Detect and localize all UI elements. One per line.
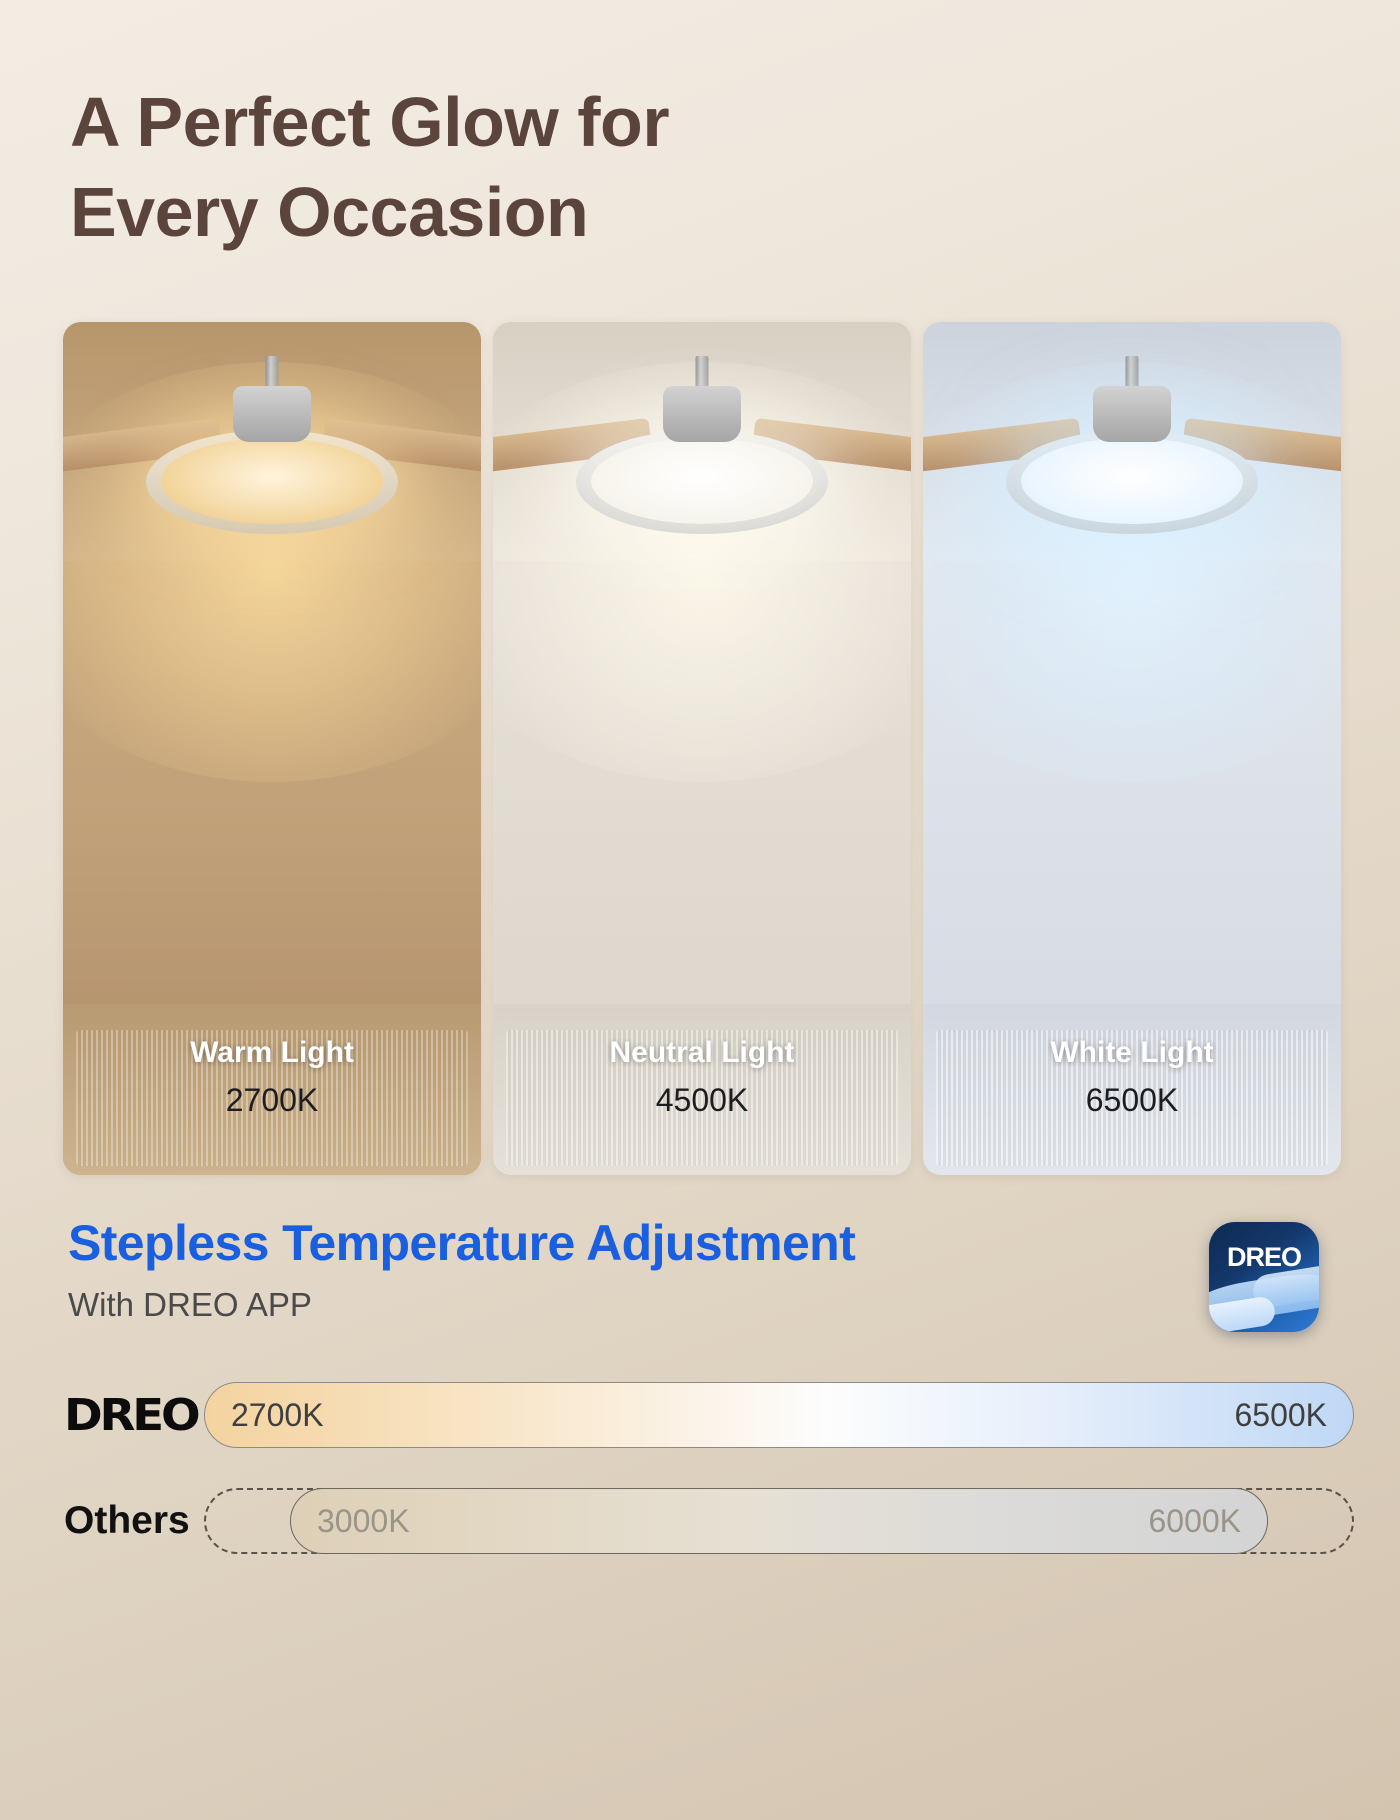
dreo-range-bar[interactable]: 2700K 6500K	[204, 1382, 1354, 1448]
others-range-bar[interactable]: 3000K 6000K	[290, 1488, 1268, 1554]
fan-motor-housing	[663, 386, 741, 442]
dreo-app-icon[interactable]: DREO	[1209, 1222, 1319, 1332]
wall	[923, 561, 1341, 1022]
dreo-range-min: 2700K	[231, 1397, 324, 1434]
row-label-dreo: DREO	[64, 1390, 204, 1441]
panel-kelvin: 2700K	[63, 1082, 481, 1119]
headline-line-2: Every Occasion	[70, 168, 970, 258]
fan-lamp-diffuser	[591, 438, 813, 524]
panel-white-light[interactable]: White Light 6500K	[923, 322, 1341, 1175]
comparison-row-dreo: DREO 2700K 6500K	[64, 1378, 1354, 1452]
fan-motor-housing	[1093, 386, 1171, 442]
others-range-outline: 3000K 6000K	[204, 1488, 1354, 1554]
panel-warm-light[interactable]: Warm Light 2700K	[63, 322, 481, 1175]
ceiling-fan	[493, 356, 911, 566]
wall	[493, 561, 911, 1022]
dreo-range-bar-wrap: 2700K 6500K	[204, 1382, 1354, 1448]
others-range-max: 6000K	[1148, 1503, 1241, 1540]
ceiling-fan	[63, 356, 481, 566]
fan-lamp-diffuser	[1021, 438, 1243, 524]
fan-lamp-diffuser	[161, 438, 383, 524]
section-title: Stepless Temperature Adjustment	[68, 1214, 855, 1272]
panel-caption-white: White Light 6500K	[923, 1036, 1341, 1119]
wall	[63, 561, 481, 1022]
panel-kelvin: 4500K	[493, 1082, 911, 1119]
section-subtitle: With DREO APP	[68, 1286, 855, 1324]
panel-kelvin: 6500K	[923, 1082, 1341, 1119]
page-title: A Perfect Glow for Every Occasion	[70, 78, 970, 257]
others-label: Others	[64, 1499, 204, 1543]
marketing-page: A Perfect Glow for Every Occasion W	[0, 0, 1400, 1820]
panel-caption-neutral: Neutral Light 4500K	[493, 1036, 911, 1119]
others-range-bar-wrap: 3000K 6000K	[204, 1488, 1354, 1554]
section-heading: Stepless Temperature Adjustment With DRE…	[68, 1214, 855, 1324]
ceiling-fan	[923, 356, 1341, 566]
comparison-row-others: Others 3000K 6000K	[64, 1484, 1354, 1558]
app-icon-wordmark: DREO	[1209, 1242, 1319, 1273]
temperature-comparison: DREO 2700K 6500K Others 3000K 6000K	[64, 1378, 1354, 1558]
others-range-min: 3000K	[317, 1503, 410, 1540]
panel-name: White Light	[923, 1036, 1341, 1070]
lighting-panels: Warm Light 2700K Neutral Ligh	[63, 322, 1341, 1175]
headline-line-1: A Perfect Glow for	[70, 83, 669, 161]
row-label-others: Others	[64, 1499, 204, 1543]
panel-name: Neutral Light	[493, 1036, 911, 1070]
fan-motor-housing	[233, 386, 311, 442]
dreo-wordmark: DREO	[64, 1390, 212, 1441]
panel-neutral-light[interactable]: Neutral Light 4500K	[493, 322, 911, 1175]
panel-caption-warm: Warm Light 2700K	[63, 1036, 481, 1119]
dreo-range-max: 6500K	[1234, 1397, 1327, 1434]
panel-name: Warm Light	[63, 1036, 481, 1070]
